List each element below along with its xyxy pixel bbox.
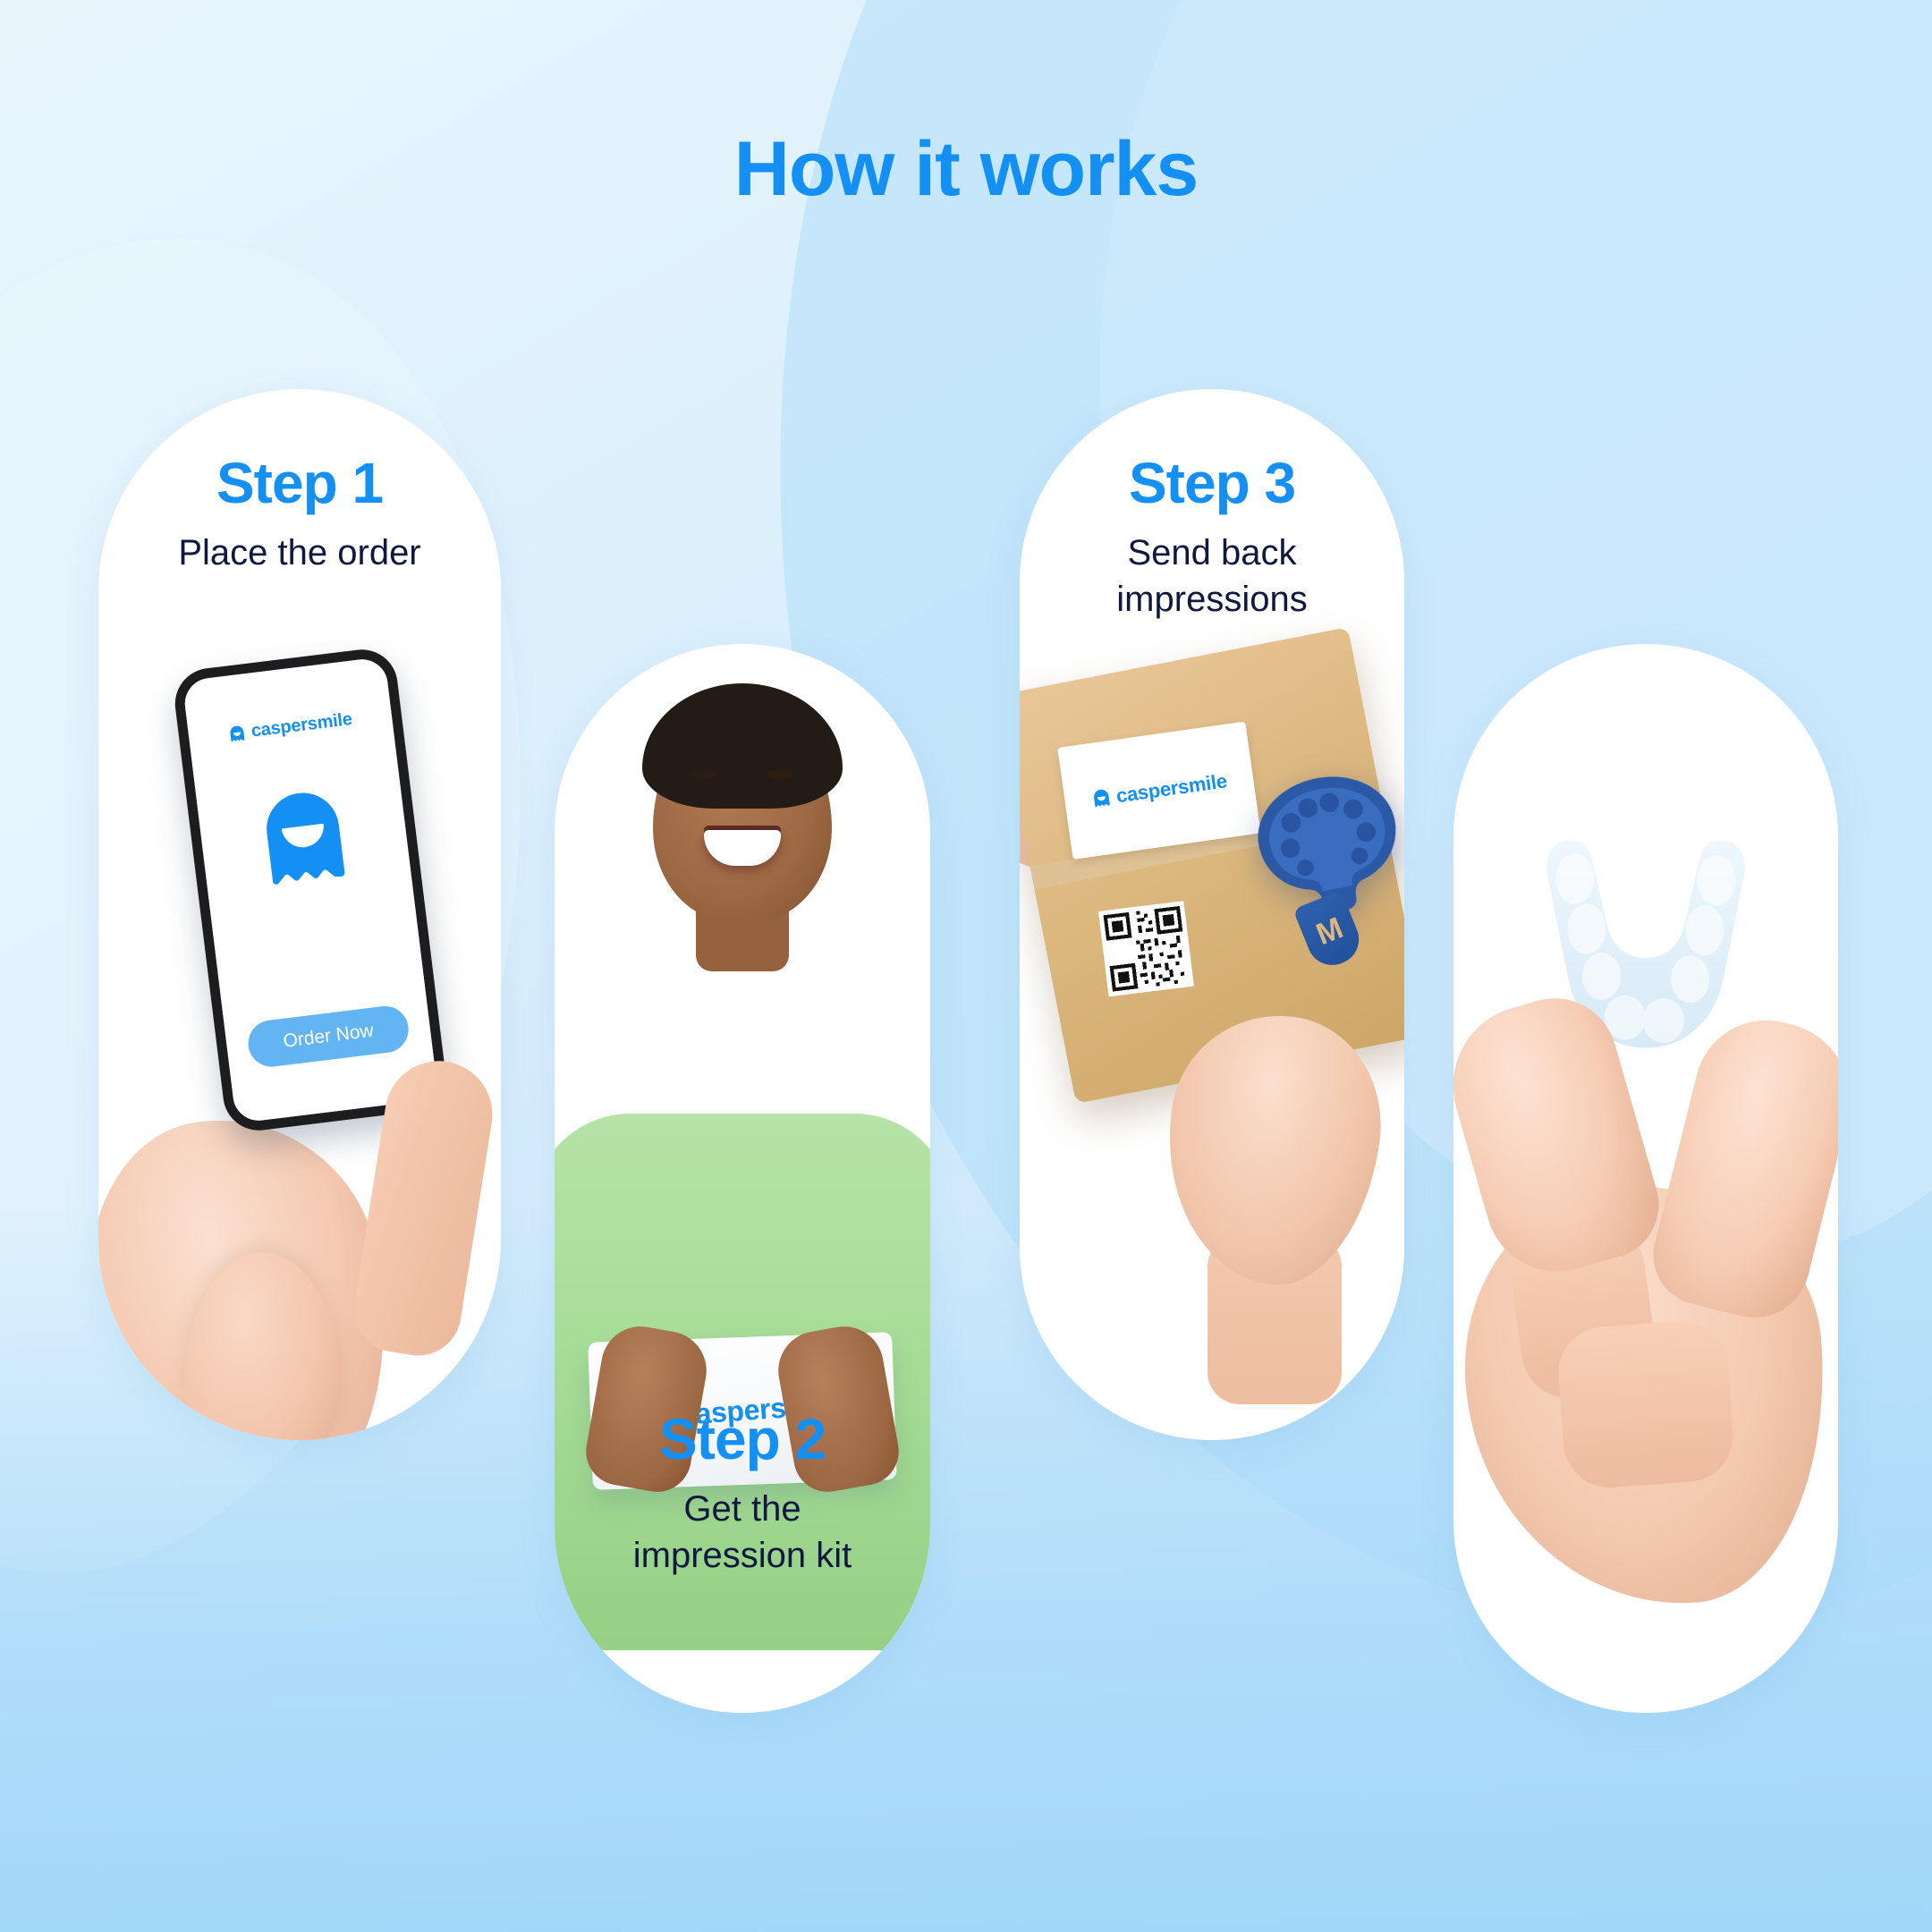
infographic-canvas: How it works Step 1 Place the order casp… [0, 0, 1932, 1932]
step-card-3: Step 3 Send back impressions caspersmile [1020, 389, 1404, 1440]
step-2-label: Step 2 [555, 1410, 930, 1470]
order-now-button[interactable]: Order Now [246, 1004, 411, 1070]
step-card-1: Step 1 Place the order caspersmile Order… [98, 389, 501, 1440]
model-eye-left [691, 769, 717, 779]
smartphone-mockup: caspersmile Order Now [171, 646, 450, 1135]
shipping-label-text: caspersmile [1114, 769, 1228, 808]
hand-knuckle-lower [1555, 1318, 1736, 1491]
step-2-caption: Step 2 Get the impression kit [555, 1410, 930, 1579]
ghost-icon [227, 724, 247, 743]
step-card-2: caspersmile Step 2 Get the impression ki… [555, 644, 930, 1713]
model-eye-right [767, 769, 794, 779]
app-logo: caspersmile [227, 709, 353, 745]
step-3-caption: Step 3 Send back impressions [1020, 453, 1404, 623]
step-3-description: Send back impressions [1020, 530, 1404, 623]
page-title: How it works [0, 125, 1932, 214]
shipping-label-logo: caspersmile [1089, 769, 1228, 811]
step-3-label: Step 3 [1020, 453, 1404, 513]
step-2-description: Get the impression kit [555, 1486, 930, 1579]
phone-screen: caspersmile Order Now [182, 657, 439, 1123]
model-hair [642, 683, 843, 809]
step-1-label: Step 1 [98, 453, 501, 513]
qr-code-icon [1098, 901, 1194, 996]
step-1-caption: Step 1 Place the order [98, 453, 501, 576]
ghost-mascot-icon [250, 783, 360, 899]
ghost-icon [1090, 787, 1113, 809]
step-card-4 [1453, 644, 1838, 1713]
shipping-package: caspersmile [1020, 627, 1404, 1104]
app-logo-text: caspersmile [250, 709, 353, 742]
step-1-description: Place the order [98, 530, 501, 576]
